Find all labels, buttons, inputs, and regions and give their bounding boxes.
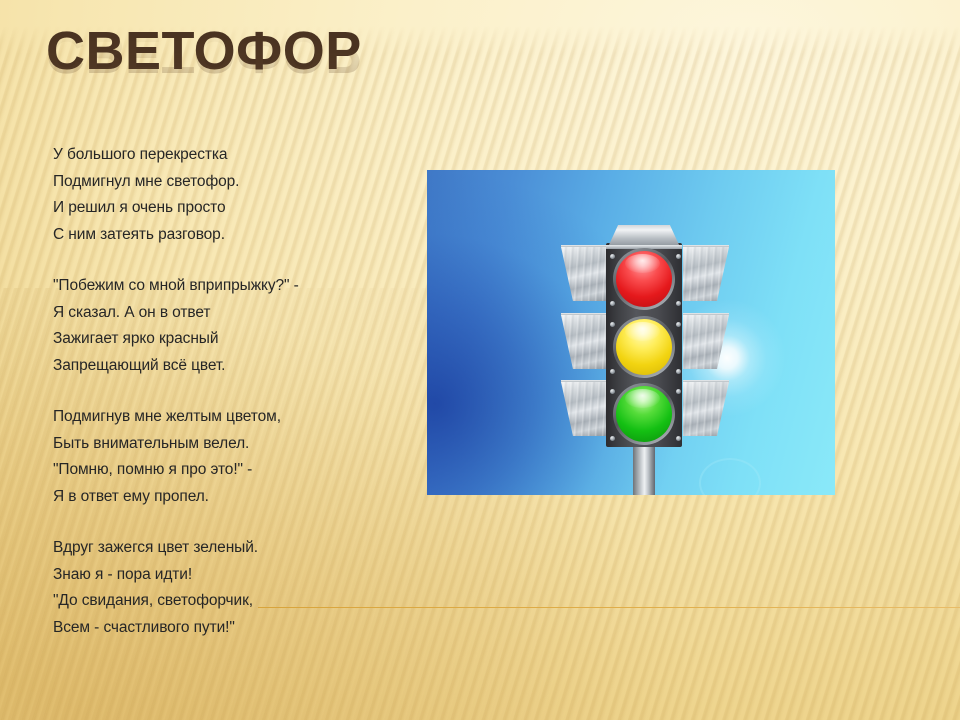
poem-line: Подмигнул мне светофор. xyxy=(53,169,383,196)
poem-line: Я в ответ ему пропел. xyxy=(53,484,383,511)
traffic-light-image xyxy=(427,170,835,495)
poem-line: И решил я очень просто xyxy=(53,195,383,222)
poem-line: Быть внимательным велел. xyxy=(53,431,383,458)
red-lamp xyxy=(616,251,672,307)
housing-bolt xyxy=(610,254,615,259)
poem-line: Подмигнув мне желтым цветом, xyxy=(53,404,383,431)
housing-bolt xyxy=(676,369,681,374)
housing-bolt xyxy=(610,301,615,306)
traffic-light-assembly xyxy=(575,225,715,495)
housing-bolt xyxy=(676,322,681,327)
poem-line: Вдруг зажегся цвет зеленый. xyxy=(53,535,383,562)
traffic-light-top-hood xyxy=(608,225,680,247)
poem-line: "Побежим со мной вприпрыжку?" - xyxy=(53,273,383,300)
poem-stanza: Подмигнув мне желтым цветом, Быть внимат… xyxy=(53,404,383,510)
poem-line: Зажигает ярко красный xyxy=(53,326,383,353)
yellow-lamp-glass xyxy=(616,319,672,375)
traffic-light-pole xyxy=(633,439,655,495)
poem-line: Знаю я - пора идти! xyxy=(53,562,383,589)
poem-line: Запрещающий всё цвет. xyxy=(53,353,383,380)
presentation-slide: СВЕТОФОР СВЕТОФОР У большого перекрестка… xyxy=(0,0,960,720)
green-lamp xyxy=(616,386,672,442)
housing-bolt xyxy=(676,254,681,259)
poem-line: "До свидания, светофорчик, xyxy=(53,588,383,615)
housing-bolt xyxy=(610,322,615,327)
poem-body: У большого перекрестка Подмигнул мне све… xyxy=(53,142,383,641)
poem-stanza: Вдруг зажегся цвет зеленый. Знаю я - пор… xyxy=(53,535,383,641)
poem-stanza: "Побежим со мной вприпрыжку?" - Я сказал… xyxy=(53,273,383,379)
slide-title-block: СВЕТОФОР СВЕТОФОР xyxy=(46,24,846,134)
housing-bolt xyxy=(676,389,681,394)
housing-bolt xyxy=(610,389,615,394)
green-lamp-glass xyxy=(616,386,672,442)
poem-line: "Помню, помню я про это!" - xyxy=(53,457,383,484)
poem-line: У большого перекрестка xyxy=(53,142,383,169)
red-lamp-glass xyxy=(616,251,672,307)
housing-bolt xyxy=(610,436,615,441)
yellow-lamp xyxy=(616,319,672,375)
poem-line: С ним затеять разговор. xyxy=(53,222,383,249)
housing-bolt xyxy=(610,369,615,374)
housing-bolt xyxy=(676,436,681,441)
poem-line: Я сказал. А он в ответ xyxy=(53,300,383,327)
housing-bolt xyxy=(676,301,681,306)
poem-stanza: У большого перекрестка Подмигнул мне све… xyxy=(53,142,383,248)
page-title: СВЕТОФОР xyxy=(46,24,846,78)
accent-divider-line xyxy=(258,607,960,608)
poem-line: Всем - счастливого пути!" xyxy=(53,615,383,642)
